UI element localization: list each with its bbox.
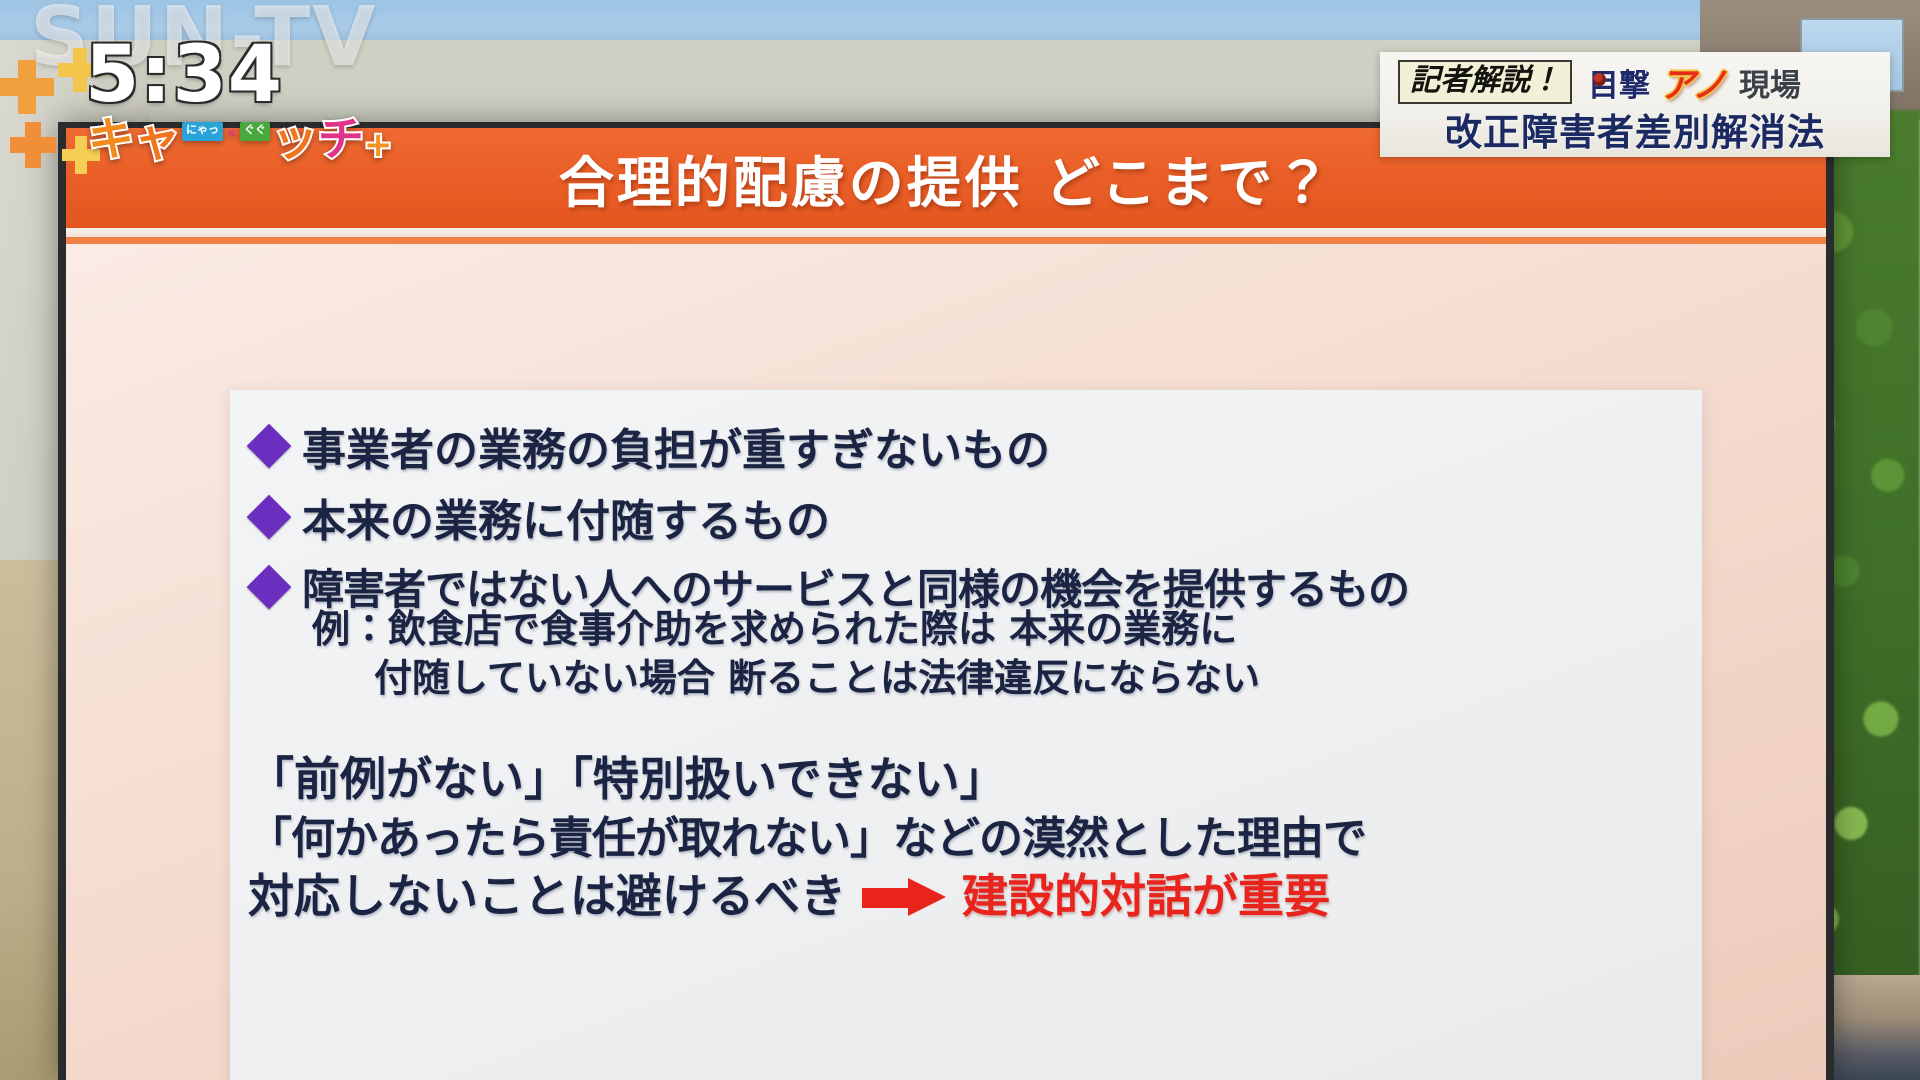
closing-line-3: 対応しないことは避けるべき bbox=[248, 867, 846, 927]
logo-ruby-chips: にゃっ × ぐぐ bbox=[182, 122, 270, 141]
closing-highlight: 建設的対話が重要 bbox=[962, 867, 1330, 927]
page-title: 合理的配慮の提供 どこまで？ bbox=[559, 138, 1334, 218]
banner-top-row: 記者解説！ 目撃 アノ 現場 bbox=[1380, 58, 1890, 106]
segment-title-part2: アノ bbox=[1660, 57, 1727, 108]
closing-block: 「前例がない」「特別扱いできない」 「何かあったら責任が取れない」などの漠然とし… bbox=[248, 750, 1698, 927]
segment-title-part1: 目撃 bbox=[1588, 60, 1650, 105]
logo-char-4: チ bbox=[318, 116, 364, 162]
diamond-bullet-icon bbox=[247, 495, 292, 540]
diamond-bullet-icon bbox=[247, 564, 292, 609]
content-card: 事業者の業務の負担が重すぎないもの 本来の業務に付随するもの 障害者ではない人へ… bbox=[230, 390, 1702, 1080]
logo-char-1: キ bbox=[88, 116, 134, 162]
logo-ruby-x: × bbox=[226, 126, 237, 141]
broadcast-frame: 合理的配慮の提供 どこまで？ 事業者の業務の負担が重すぎないもの 本来の業務に付… bbox=[0, 0, 1920, 1080]
presentation-board: 合理的配慮の提供 どこまで？ 事業者の業務の負担が重すぎないもの 本来の業務に付… bbox=[58, 122, 1834, 1080]
on-air-clock: 5:34 bbox=[85, 30, 283, 120]
closing-line-2: 「何かあったら責任が取れない」などの漠然とした理由で bbox=[248, 810, 1698, 867]
logo-ruby-1: にゃっ bbox=[182, 122, 223, 141]
bullet-label-2: 本来の業務に付随するもの bbox=[302, 485, 830, 549]
title-divider-light bbox=[66, 228, 1826, 237]
banner-subtitle: 改正障害者差別解消法 bbox=[1445, 102, 1825, 156]
example-line-1: 例：飲食店で食事介助を求められた際は 本来の業務に bbox=[312, 607, 1237, 651]
example-line-2: 付随していない場合 断ることは法律違反にならない bbox=[312, 654, 1692, 703]
logo-char-3: ッ bbox=[272, 116, 318, 162]
reporter-commentary-tag: 記者解説！ bbox=[1398, 60, 1572, 104]
closing-line-3-row: 対応しないことは避けるべき 建設的対話が重要 bbox=[248, 867, 1698, 927]
closing-line-1: 「前例がない」「特別扱いできない」 bbox=[248, 750, 1698, 810]
diamond-bullet-icon bbox=[247, 424, 292, 469]
title-divider-orange bbox=[66, 237, 1826, 244]
right-arrow-icon bbox=[862, 880, 946, 914]
example-block: 例：飲食店で食事介助を求められた際は 本来の業務に 付随していない場合 断ること… bbox=[312, 605, 1692, 702]
logo-plus: + bbox=[364, 128, 393, 162]
list-item: 本来の業務に付随するもの bbox=[250, 485, 1690, 549]
banner-bottom-row: 改正障害者差別解消法 bbox=[1380, 104, 1890, 154]
plus-decoration-icon bbox=[0, 60, 54, 114]
program-logo: キ ャ にゃっ × ぐぐ ッ チ + bbox=[88, 116, 392, 162]
logo-char-2: ャ bbox=[134, 116, 180, 162]
bullet-label-1: 事業者の業務の負担が重すぎないもの bbox=[302, 414, 1050, 478]
program-banner: 記者解説！ 目撃 アノ 現場 改正障害者差別解消法 bbox=[1380, 52, 1890, 157]
bullet-list: 事業者の業務の負担が重すぎないもの 本来の業務に付随するもの 障害者ではない人へ… bbox=[250, 414, 1690, 624]
list-item: 事業者の業務の負担が重すぎないもの bbox=[250, 414, 1690, 478]
segment-title-part3: 現場 bbox=[1739, 60, 1801, 105]
plus-decoration-icon bbox=[10, 122, 56, 168]
logo-ruby-2: ぐぐ bbox=[240, 122, 270, 141]
eye-icon bbox=[1593, 73, 1606, 86]
